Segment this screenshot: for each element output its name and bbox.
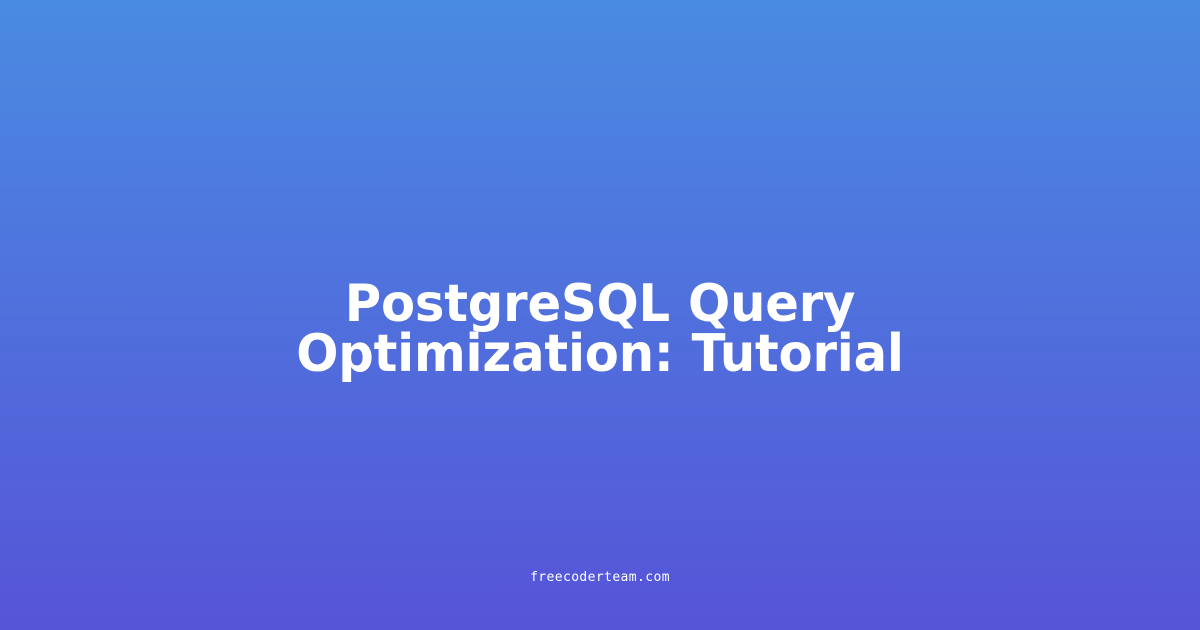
share-card: PostgreSQL Query Optimization: Tutorial … <box>0 0 1200 630</box>
page-title: PostgreSQL Query Optimization: Tutorial <box>223 279 977 379</box>
site-domain-label: freecoderteam.com <box>530 570 670 585</box>
title-block: PostgreSQL Query Optimization: Tutorial <box>205 279 995 379</box>
footer: freecoderteam.com <box>0 566 1200 586</box>
